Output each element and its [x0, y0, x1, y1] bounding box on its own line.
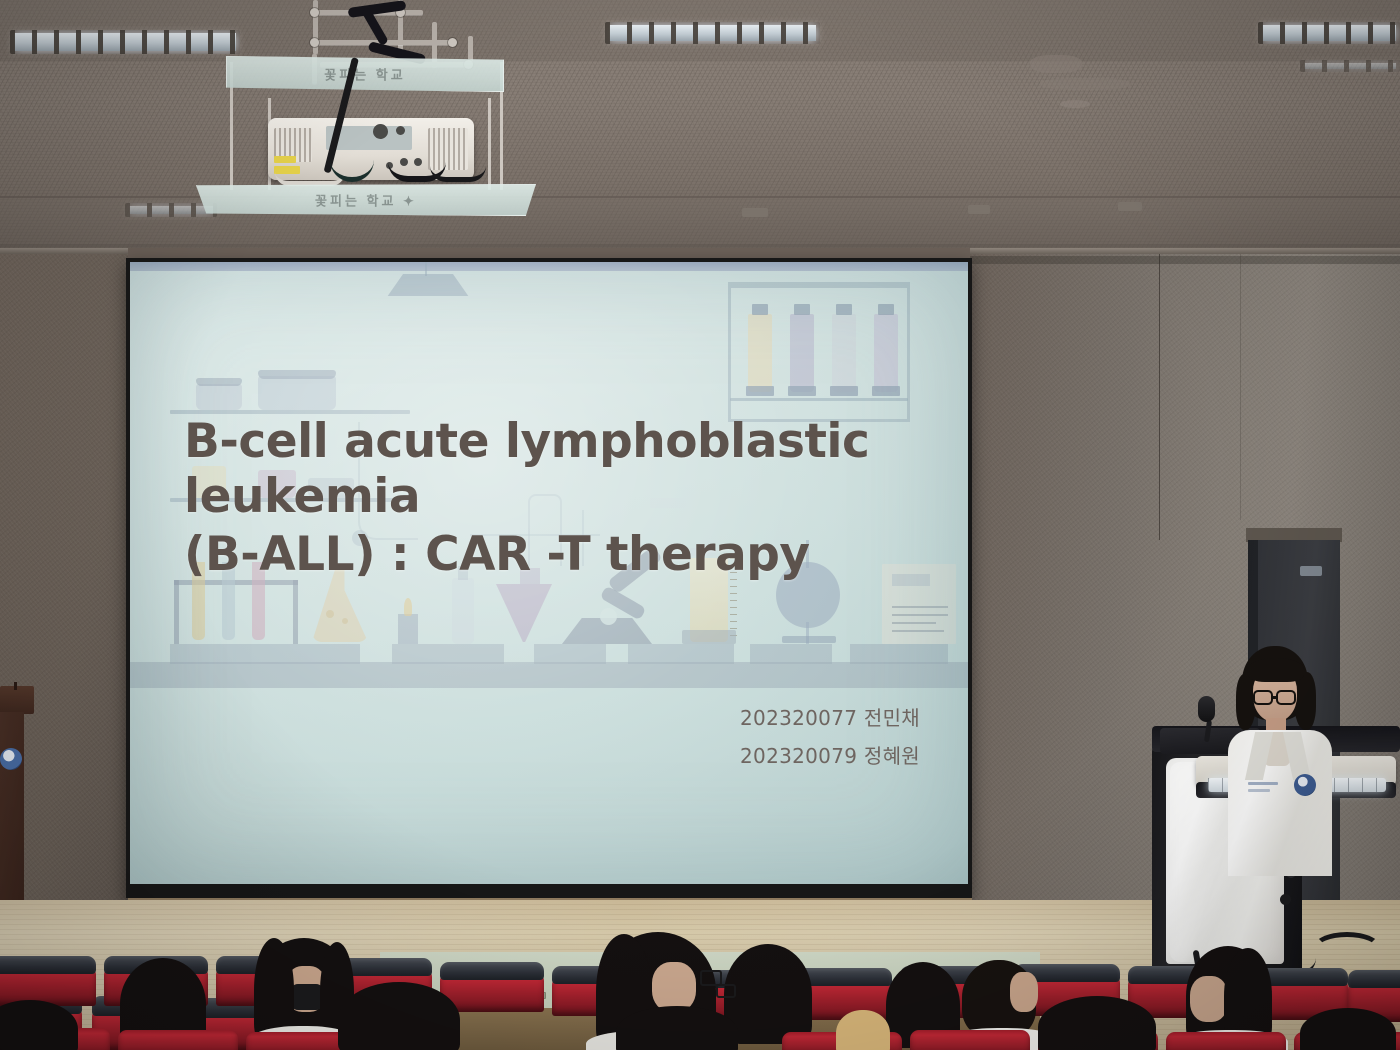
jar-lid-icon-2 — [258, 370, 336, 379]
reagent-bottle-cap-1 — [752, 304, 768, 315]
audience-seat-front — [910, 1030, 1030, 1050]
microphone-head — [1198, 696, 1215, 722]
bench-top-mid3 — [628, 644, 734, 664]
burner-flame-icon — [404, 598, 412, 616]
slide-top-band — [130, 262, 968, 271]
slide-title-line-2: (B-ALL) : CAR -T therapy — [184, 527, 810, 582]
projector-shelf-upper: 꽃피는 학교 — [226, 56, 504, 92]
jar-icon-2 — [258, 376, 336, 410]
slide-author-2: 202320079 정혜원 — [740, 740, 920, 769]
lectern-top — [0, 686, 34, 714]
test-tube-rack-leg — [174, 580, 179, 644]
projector-button — [396, 126, 405, 135]
presenter-glasses-right-lens — [1276, 690, 1296, 705]
wall-left-trim — [0, 248, 128, 254]
presenter-bangs — [1248, 658, 1304, 682]
document-header-icon — [892, 574, 930, 586]
tall-bottle-icon — [452, 578, 474, 644]
bench-top-mid1 — [392, 644, 504, 664]
lectern-emblem — [0, 748, 22, 770]
reagent-bottle-1 — [748, 314, 772, 392]
cabinet-tag-4 — [872, 386, 900, 396]
flask-bubble — [326, 610, 334, 618]
wall-seam-2 — [1240, 250, 1241, 520]
audience-person-front — [1038, 996, 1156, 1050]
bench-top-left — [170, 644, 360, 664]
burner-body-icon — [398, 614, 418, 644]
podium-port — [1280, 894, 1291, 905]
presenter-name-embroidery-2 — [1248, 789, 1270, 792]
microscope-knob-icon — [600, 608, 617, 625]
audience-person-front — [616, 1006, 738, 1050]
slide-title-line-1: B-cell acute lymphoblastic leukemia — [184, 414, 968, 524]
audience-person-front — [1300, 1008, 1396, 1050]
funnel-icon — [496, 584, 552, 642]
wall-right-trim — [970, 248, 1400, 254]
scissor-joint — [310, 38, 319, 47]
audience-seat-headrest — [440, 962, 544, 980]
audience-person-face — [652, 962, 696, 1012]
lectern-body — [0, 712, 24, 900]
scissor-joint — [448, 38, 457, 47]
reagent-bottle-cap-3 — [836, 304, 852, 315]
cylinder-base-icon — [682, 630, 736, 644]
cabinet-tag-3 — [830, 386, 858, 396]
audience-seat-front — [118, 1030, 238, 1050]
slide-author-1: 202320077 전민채 — [740, 702, 920, 731]
audience-person-face — [1190, 976, 1228, 1022]
test-tube-rack-leg — [293, 580, 298, 644]
projector-rig: 꽃피는 학교 꽃피는 학교 ✦ — [0, 0, 1400, 250]
document-line — [892, 630, 944, 632]
cabinet-tag-1 — [746, 386, 774, 396]
lamp-cord-icon — [425, 262, 427, 276]
reagent-bottle-4 — [874, 314, 898, 392]
bench-top-mid2 — [534, 644, 606, 664]
lab-bench-icon — [130, 662, 968, 688]
audience-person-face — [1010, 972, 1038, 1012]
document-line — [892, 622, 936, 624]
scissor-joint — [310, 8, 319, 17]
projection-screen: B-cell acute lymphoblastic leukemia (B-A… — [130, 262, 968, 884]
presenter-name-embroidery — [1248, 782, 1278, 785]
audience-seat-front — [1166, 1032, 1286, 1050]
shelf-lower-markings: 꽃피는 학교 ✦ — [197, 191, 535, 210]
presenter-glasses-bridge — [1272, 696, 1277, 699]
lectern-mic-stub — [14, 682, 17, 690]
cabinet-shelf-line — [730, 398, 908, 401]
floor-cable-1 — [1312, 932, 1382, 966]
flask-stand-foot-icon — [782, 636, 836, 643]
projection-screen-frame: B-cell acute lymphoblastic leukemia (B-A… — [126, 258, 972, 898]
audience-person-front — [338, 982, 460, 1050]
wall-right-shadow — [970, 256, 1400, 264]
projector-lens — [373, 124, 388, 139]
audience-glasses — [716, 984, 736, 998]
jar-icon-1 — [196, 384, 242, 410]
wall-seam-1 — [1159, 250, 1160, 540]
door-closer — [1300, 566, 1322, 576]
audience-seat-headrest — [0, 956, 96, 974]
presenter-badge — [1294, 774, 1316, 796]
projector-cable-black — [430, 166, 486, 182]
projector-label — [274, 156, 296, 163]
document-line — [892, 606, 948, 608]
reagent-bottle-cap-2 — [794, 304, 810, 315]
cabinet-tag-2 — [788, 386, 816, 396]
lecture-hall-photo: 꽃피는 학교 꽃피는 학교 ✦ — [0, 0, 1400, 1050]
projector-shelf-lower: 꽃피는 학교 ✦ — [196, 184, 536, 216]
presenter — [1226, 646, 1336, 876]
jar-lid-icon-1 — [196, 378, 242, 386]
reagent-bottle-cap-4 — [878, 304, 894, 315]
bench-top-mid4 — [750, 644, 832, 664]
flask-bubble — [342, 618, 348, 624]
presenter-glasses-left-lens — [1253, 690, 1273, 705]
hanging-lamp-icon — [380, 274, 476, 296]
audience-face-mask — [290, 984, 324, 1010]
reagent-bottle-2 — [790, 314, 814, 392]
bench-top-right — [850, 644, 948, 664]
audience-seat-headrest — [1348, 970, 1400, 988]
document-line — [892, 614, 948, 616]
shelf-upper-markings: 꽃피는 학교 — [227, 65, 503, 84]
reagent-bottle-3 — [832, 314, 856, 392]
audience-person-front-blond — [836, 1010, 890, 1050]
presenter-hair-side-right — [1294, 672, 1316, 730]
rig-rod — [488, 98, 491, 190]
